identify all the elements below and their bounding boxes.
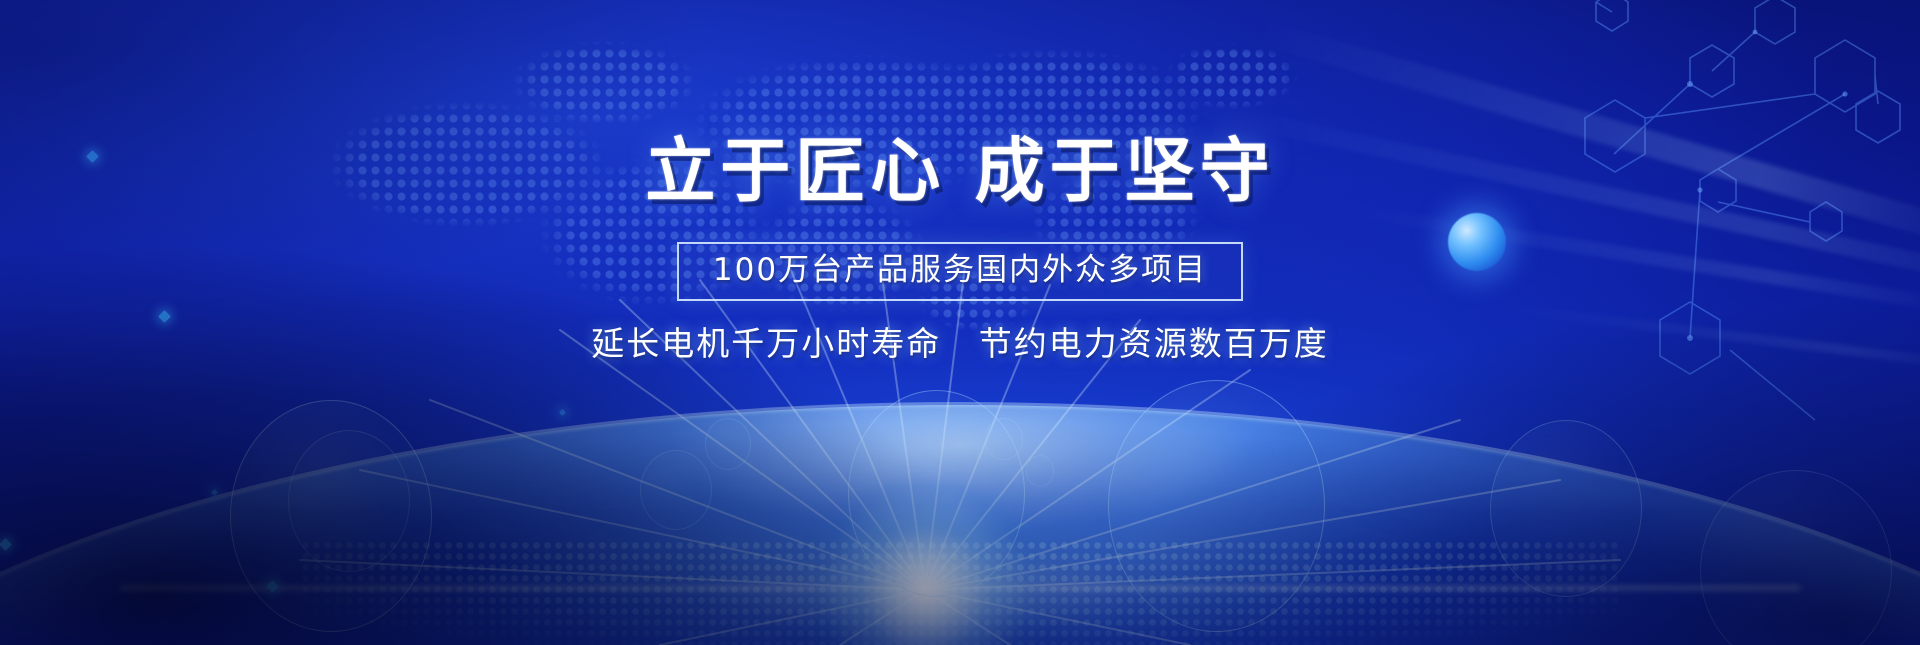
tagline: 延长电机千万小时寿命 节约电力资源数百万度 xyxy=(591,325,1328,363)
boxed-subtitle: 100万台产品服务国内外众多项目 xyxy=(677,242,1243,301)
hero-banner: 立于匠心 成于坚守 100万台产品服务国内外众多项目 延长电机千万小时寿命 节约… xyxy=(0,0,1920,645)
page-title: 立于匠心 成于坚守 xyxy=(645,134,1274,208)
banner-content: 立于匠心 成于坚守 100万台产品服务国内外众多项目 延长电机千万小时寿命 节约… xyxy=(0,0,1920,645)
